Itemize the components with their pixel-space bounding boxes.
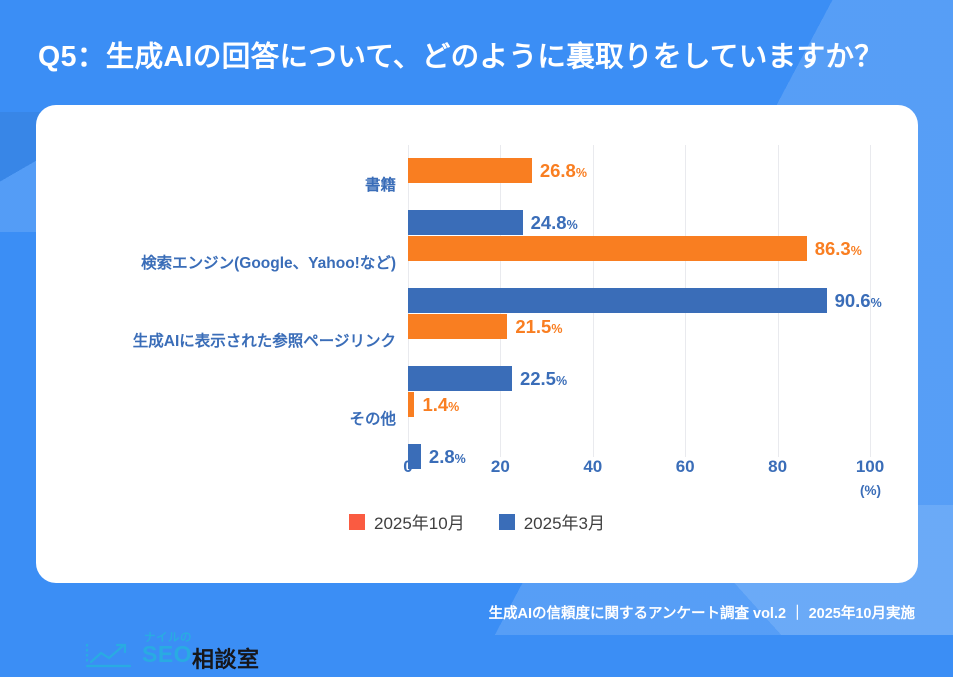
bar-row[interactable]: 1.4%: [408, 392, 870, 417]
axis-tick-label: 60: [676, 457, 695, 477]
axis-tick-label: 100: [856, 457, 884, 477]
category-label: 検索エンジン(Google、Yahoo!など): [141, 251, 396, 273]
line-chart-arrow-icon: [84, 640, 134, 675]
bar-row[interactable]: 86.3%: [408, 236, 870, 261]
value-axis-ticks: 020406080100: [408, 457, 870, 483]
value-axis-unit: (%): [860, 483, 881, 498]
page-title: Q5：生成AIの回答について、どのように裏取りをしていますか？: [38, 34, 928, 75]
legend-item-oct[interactable]: 2025年10月: [349, 509, 465, 534]
bar-row[interactable]: 24.8%: [408, 210, 870, 235]
bar-group: 26.8%24.8%: [408, 158, 870, 210]
logo-seo-text: SEO: [142, 641, 192, 668]
bar-oct[interactable]: [408, 158, 532, 183]
brand-logo[interactable]: ナイルの SEO 相談室: [84, 629, 274, 677]
bar-row[interactable]: 21.5%: [408, 314, 870, 339]
bar-oct[interactable]: [408, 392, 414, 417]
category-axis-labels: 書籍検索エンジン(Google、Yahoo!など)生成AIに表示された参照ページ…: [36, 145, 396, 457]
bar-group: 86.3%90.6%: [408, 236, 870, 288]
legend-item-mar[interactable]: 2025年3月: [499, 509, 605, 534]
axis-tick-label: 80: [768, 457, 787, 477]
legend-label: 2025年10月: [374, 509, 465, 534]
category-label: 生成AIに表示された参照ページリンク: [133, 329, 396, 351]
axis-tick-label: 20: [491, 457, 510, 477]
chart-plot-area: 26.8%24.8%86.3%90.6%21.5%22.5%1.4%2.8%: [408, 145, 870, 457]
survey-footnote: 生成AIの信頼度に関するアンケート調査 vol.2 ｜ 2025年10月実施: [489, 602, 915, 623]
bar-oct[interactable]: [408, 236, 807, 261]
bar-value-label: 86.3%: [815, 238, 862, 260]
chart-card: 書籍検索エンジン(Google、Yahoo!など)生成AIに表示された参照ページ…: [36, 105, 918, 583]
axis-tick-label: 0: [403, 457, 412, 477]
chart-legend: 2025年10月2025年3月: [36, 509, 918, 534]
logo-word-text: 相談室: [192, 642, 260, 674]
bar-value-label: 1.4%: [422, 394, 459, 416]
category-label: 書籍: [365, 173, 396, 195]
bar-mar[interactable]: [408, 210, 523, 235]
axis-tick-label: 40: [583, 457, 602, 477]
bar-row[interactable]: 26.8%: [408, 158, 870, 183]
legend-swatch-icon: [499, 514, 515, 530]
bar-row[interactable]: 22.5%: [408, 366, 870, 391]
bar-group: 1.4%2.8%: [408, 392, 870, 444]
bar-mar[interactable]: [408, 288, 827, 313]
bar-value-label: 24.8%: [531, 212, 578, 234]
bar-value-label: 26.8%: [540, 160, 587, 182]
bar-value-label: 22.5%: [520, 368, 567, 390]
bar-mar[interactable]: [408, 366, 512, 391]
bar-value-label: 21.5%: [515, 316, 562, 338]
bar-row[interactable]: 90.6%: [408, 288, 870, 313]
bar-oct[interactable]: [408, 314, 507, 339]
bar-value-label: 90.6%: [835, 290, 882, 312]
legend-swatch-icon: [349, 514, 365, 530]
bar-group: 21.5%22.5%: [408, 314, 870, 366]
legend-label: 2025年3月: [524, 509, 605, 534]
category-label: その他: [349, 407, 396, 429]
